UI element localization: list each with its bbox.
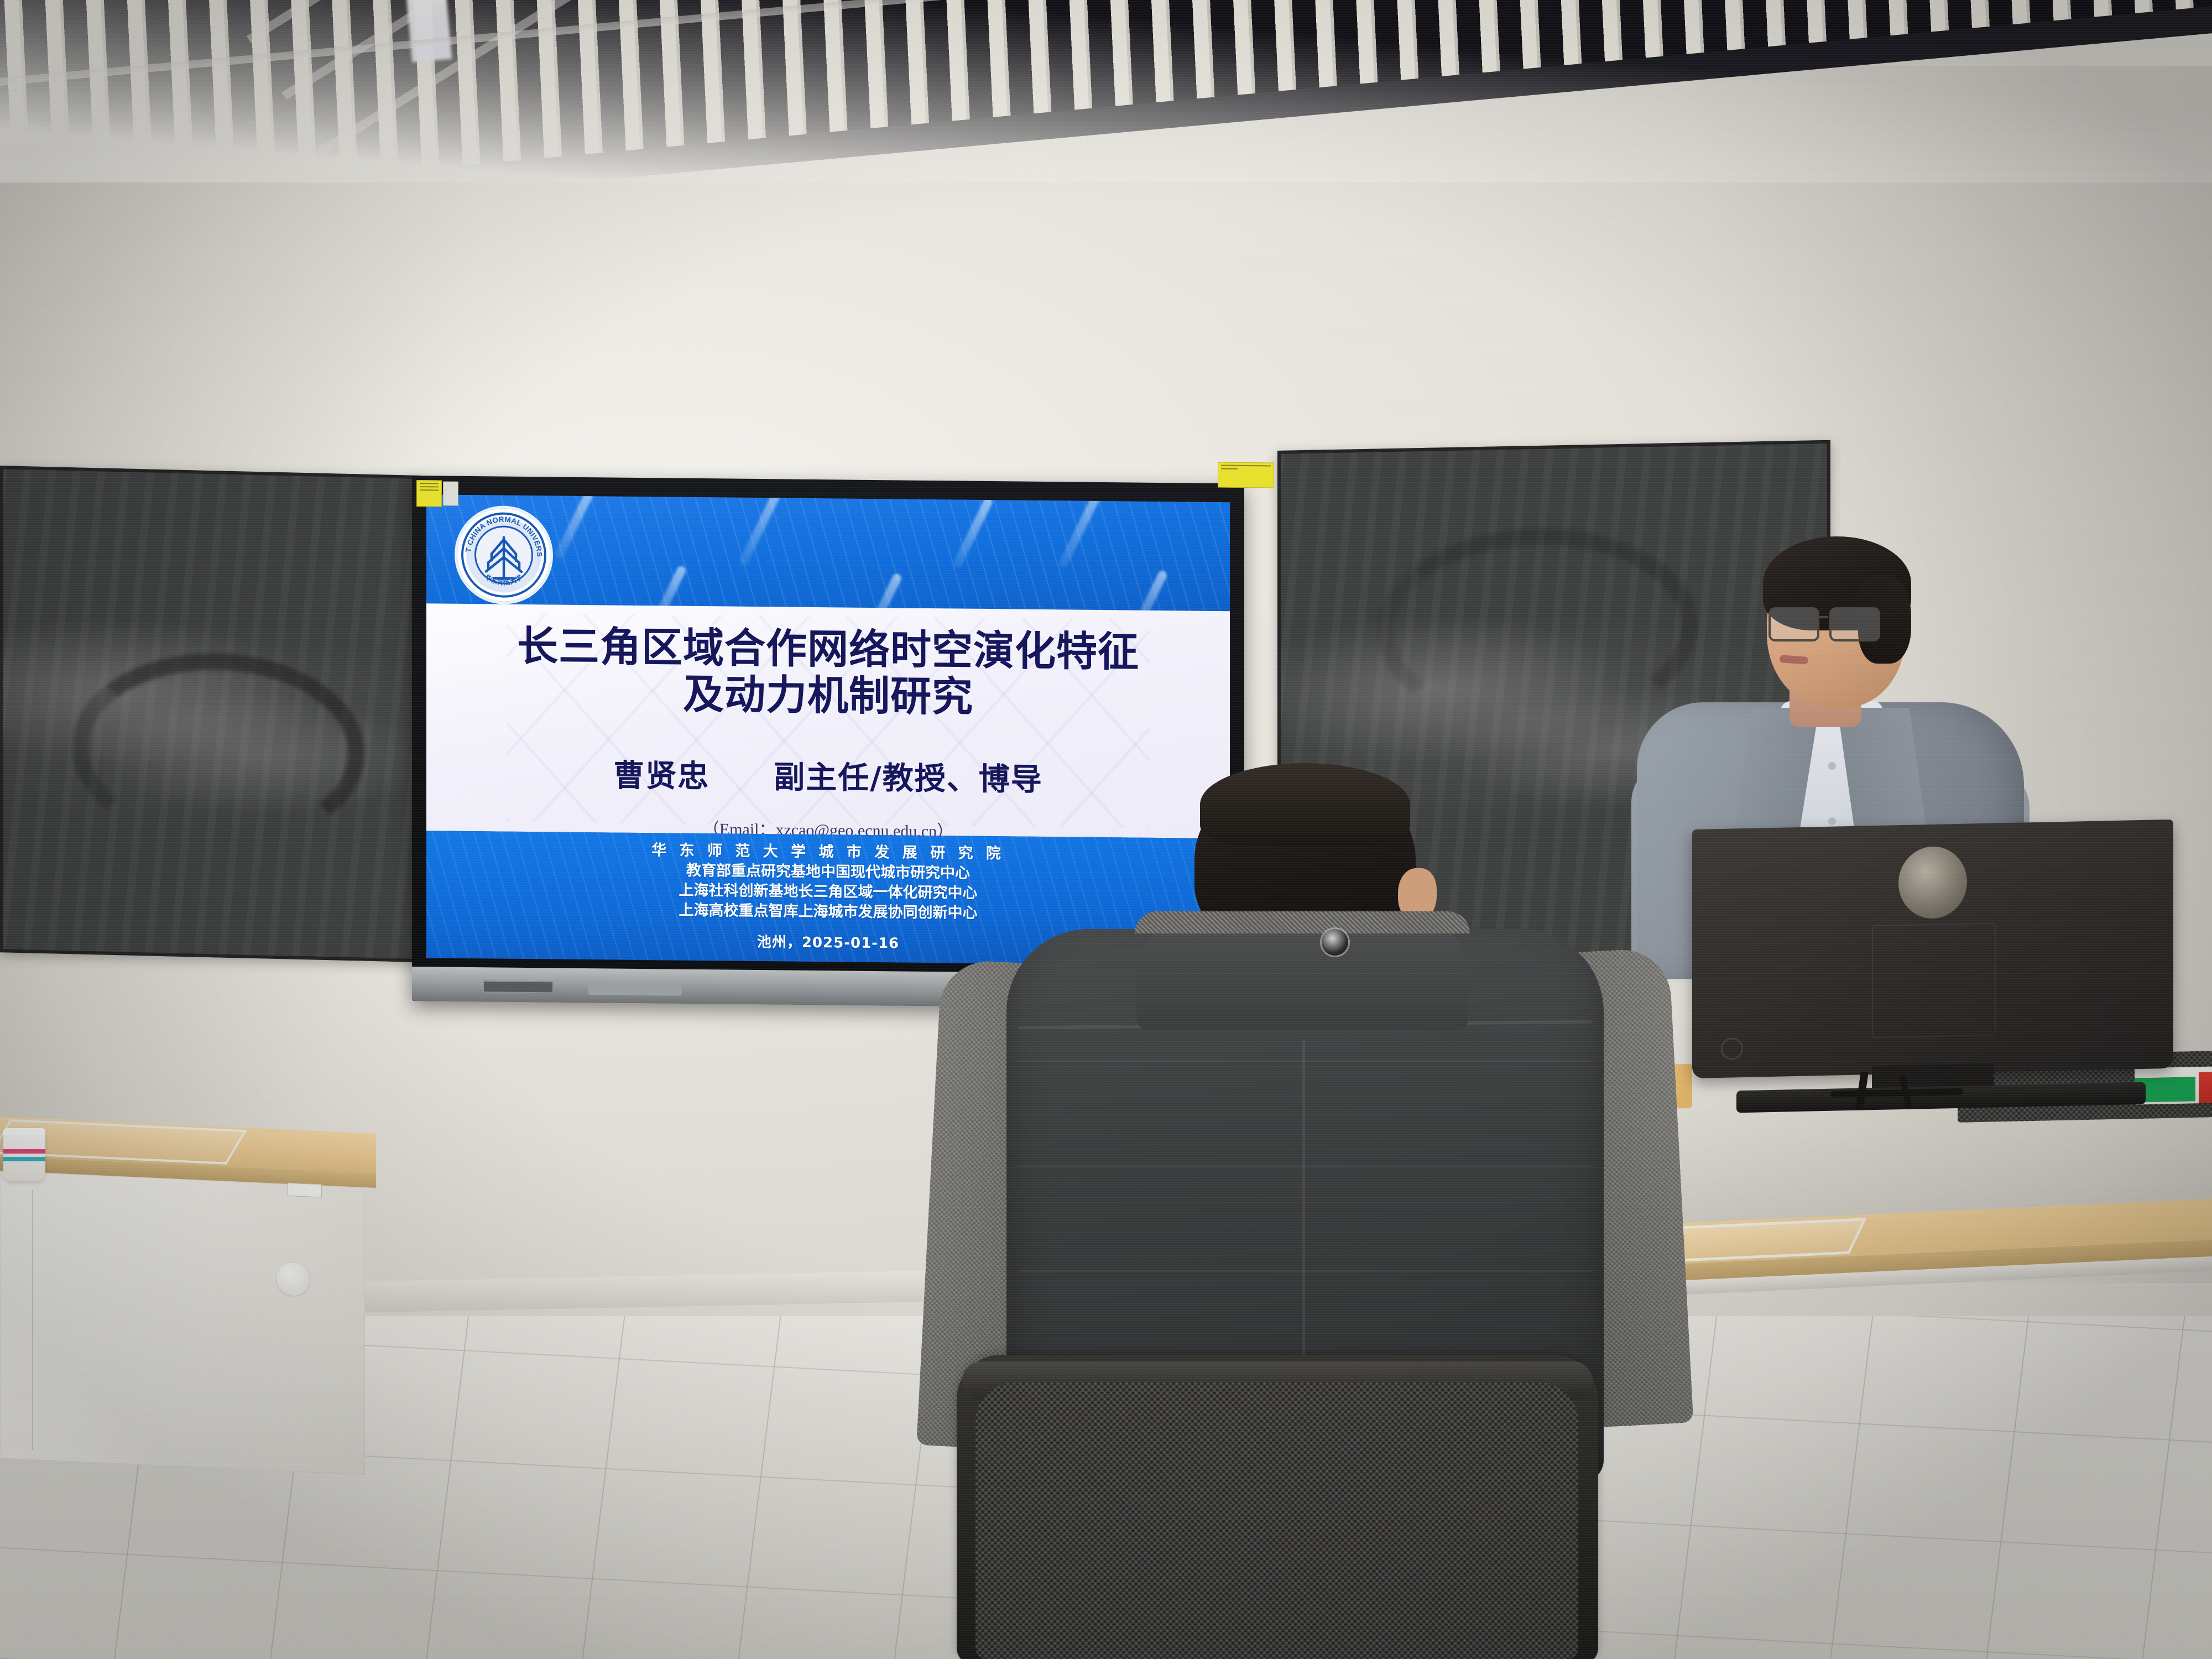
presenter-brow-right <box>1832 597 1866 602</box>
lectern-body <box>0 1171 365 1475</box>
paper-cup <box>3 1128 45 1181</box>
ecnu-logo-icon: EAST CHINA NORMAL UNIVERSITY 华东师范大学 <box>457 508 550 602</box>
office-chair-mesh <box>975 1383 1578 1659</box>
slat-ceiling <box>0 0 2212 182</box>
monitor[interactable] <box>1692 820 2173 1078</box>
display-ports[interactable] <box>483 980 554 993</box>
logo-outer-text: EAST CHINA NORMAL UNIVERSITY <box>457 508 544 557</box>
slide-org-line-2: 教育部重点研究基地中国现代城市研究中心 <box>686 861 970 884</box>
slide-org-line-4: 上海高校重点智库上海城市发展协同创新中心 <box>679 901 978 924</box>
slide-title: 长三角区域合作网络时空演化特征 及动力机制研究 <box>517 623 1139 723</box>
slide-org-line-3: 上海社科创新基地长三角区域一体化研究中心 <box>679 881 978 904</box>
lectern-asset-label <box>288 1183 322 1198</box>
logo-inner-text: 华东师范大学 <box>484 572 524 587</box>
slide-title-line2: 及动力机制研究 <box>517 670 1139 722</box>
monitor-vesa-plate <box>1872 923 1996 1039</box>
blackboard-left <box>0 466 420 962</box>
lectern-door-seam <box>32 1190 33 1450</box>
presenter-brow-left <box>1774 601 1808 606</box>
presenter-glasses-icon <box>1768 607 1882 638</box>
slide-header-band: EAST CHINA NORMAL UNIVERSITY 华东师范大学 <box>426 494 1230 611</box>
display-ir-sensor <box>588 982 682 996</box>
audience-collar-trim <box>1135 911 1470 933</box>
svg-text:EAST CHINA NORMAL UNIVERSITY: EAST CHINA NORMAL UNIVERSITY <box>457 508 544 557</box>
display-warning-label-right <box>1218 462 1274 488</box>
display-spec-label <box>443 482 458 506</box>
tissue-box <box>2135 1066 2212 1104</box>
lectern-cabinet <box>0 1116 376 1477</box>
audience-person <box>940 763 1681 1659</box>
audience-collar-snap-icon <box>1322 929 1348 956</box>
ceiling-fade <box>0 0 2212 182</box>
logo-ring-text: EAST CHINA NORMAL UNIVERSITY 华东师范大学 <box>457 508 550 602</box>
slide-venue-date: 池州，2025-01-16 <box>757 931 899 952</box>
audience-hair <box>1200 763 1410 846</box>
display-warning-label-left <box>416 480 442 507</box>
svg-text:华东师范大学: 华东师范大学 <box>484 572 524 587</box>
lecture-room-photo: EAST CHINA NORMAL UNIVERSITY 华东师范大学 长三角区… <box>0 0 2212 1659</box>
slide-title-line1: 长三角区域合作网络时空演化特征 <box>517 623 1139 676</box>
